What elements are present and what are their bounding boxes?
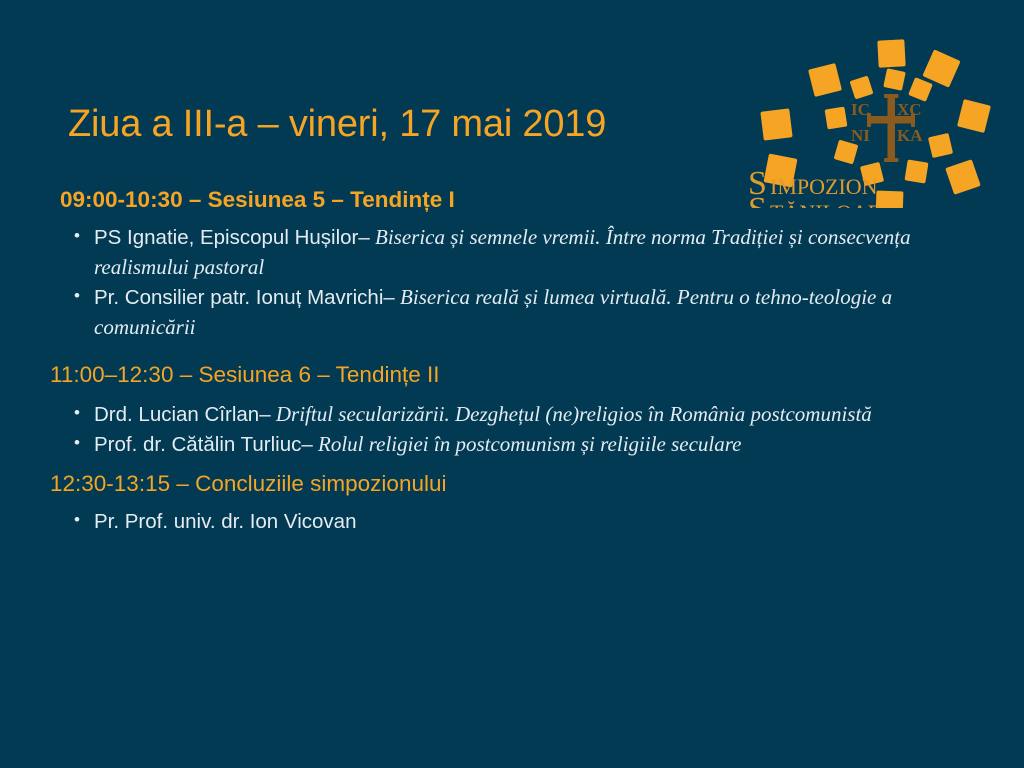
session-items: Pr. Prof. univ. dr. Ion Vicovan	[0, 507, 1024, 537]
session-block: 09:00-10:30 – Sesiunea 5 – Tendințe I PS…	[0, 186, 1024, 343]
item-speaker: PS Ignatie, Episcopul Hușilor–	[94, 226, 370, 249]
item-title: Driftul secularizării. Dezghețul (ne)rel…	[271, 402, 872, 426]
cross-inscription-ni: NI	[851, 126, 870, 145]
list-item: Pr. Prof. univ. dr. Ion Vicovan	[0, 507, 1024, 537]
session-items: PS Ignatie, Episcopul Hușilor– Biserica …	[0, 223, 1024, 342]
item-speaker: Prof. dr. Cătălin Turliuc–	[94, 433, 313, 456]
cross-inscription-xc: XC	[897, 100, 922, 119]
item-speaker: Drd. Lucian Cîrlan–	[94, 403, 271, 426]
agenda-content: 09:00-10:30 – Sesiunea 5 – Tendințe I PS…	[0, 186, 1024, 537]
item-speaker: Pr. Prof. univ. dr. Ion Vicovan	[94, 510, 356, 533]
page-title: Ziua a III-a – vineri, 17 mai 2019	[68, 103, 606, 146]
item-title: Rolul religiei în postcomunism și religi…	[313, 432, 742, 456]
list-item: PS Ignatie, Episcopul Hușilor– Biserica …	[0, 223, 1024, 283]
session-block: 12:30-13:15 – Concluziile simpozionului …	[0, 470, 1024, 537]
session-heading: 09:00-10:30 – Sesiunea 5 – Tendințe I	[0, 186, 1024, 213]
list-item: Drd. Lucian Cîrlan– Driftul secularizări…	[0, 400, 1024, 430]
presentation-slide: IC XC NI KA S IMPOZION S TĂNILOAE .logo-…	[0, 0, 1024, 768]
list-item: Pr. Consilier patr. Ionuț Mavrichi– Bise…	[0, 283, 1024, 343]
session-items: Drd. Lucian Cîrlan– Driftul secularizări…	[0, 400, 1024, 460]
list-item: Prof. dr. Cătălin Turliuc– Rolul religie…	[0, 430, 1024, 460]
session-block: 11:00–12:30 – Sesiunea 6 – Tendințe II D…	[0, 361, 1024, 460]
simpozion-staniloae-logo: IC XC NI KA S IMPOZION S TĂNILOAE .logo-…	[744, 28, 994, 208]
cross-inscription-ka: KA	[897, 126, 923, 145]
session-heading: 12:30-13:15 – Concluziile simpozionului	[0, 470, 1024, 497]
session-heading: 11:00–12:30 – Sesiunea 6 – Tendințe II	[0, 361, 1024, 388]
logo-graphic: IC XC NI KA S IMPOZION S TĂNILOAE .logo-…	[744, 28, 994, 208]
cross-inscription-ic: IC	[851, 100, 870, 119]
item-speaker: Pr. Consilier patr. Ionuț Mavrichi–	[94, 286, 395, 309]
